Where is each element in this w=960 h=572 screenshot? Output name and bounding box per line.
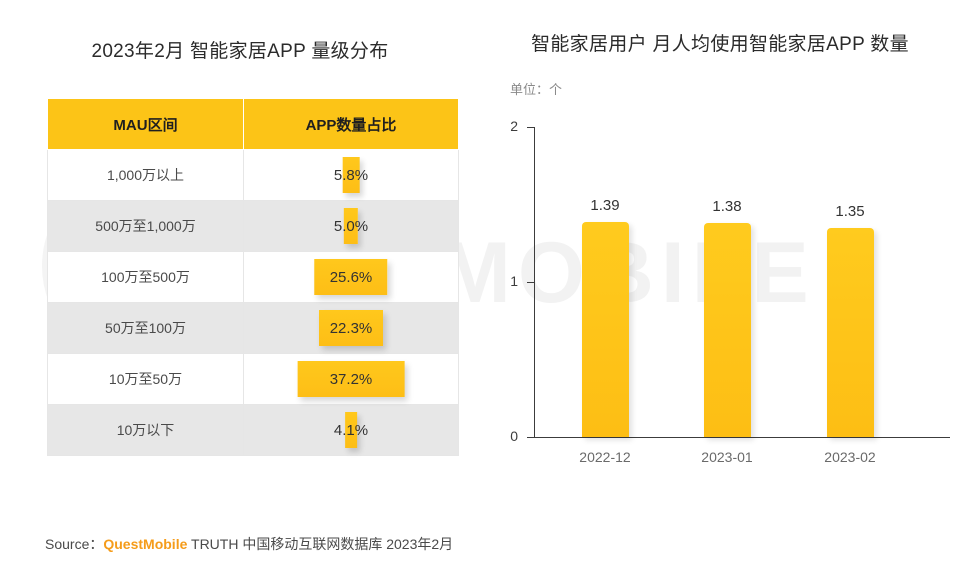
- distribution-panel: 2023年2月 智能家居APP 量级分布 MAU区间 APP数量占比 1,000…: [0, 0, 480, 500]
- table-row: 1,000万以上5.8%: [48, 150, 459, 201]
- table-row: 50万至100万22.3%: [48, 303, 459, 354]
- table-header-row: MAU区间 APP数量占比: [48, 99, 459, 150]
- cell-app-share: 37.2%: [244, 354, 459, 405]
- x-axis-tick-label: 2022-12: [555, 449, 655, 465]
- share-bar-wrapper: 37.2%: [244, 354, 458, 404]
- source-rest: TRUTH 中国移动互联网数据库 2023年2月: [187, 536, 453, 552]
- cell-mau-range: 1,000万以上: [48, 150, 244, 201]
- distribution-table-body: 1,000万以上5.8%500万至1,000万5.0%100万至500万25.6…: [48, 150, 459, 456]
- share-value-label: 5.8%: [334, 167, 368, 184]
- source-prefix: Source：: [45, 536, 103, 552]
- bar-value-label: 1.38: [687, 198, 767, 215]
- bar-chart: 012 1.391.381.35 2022-122023-012023-02: [480, 0, 960, 500]
- y-axis-tick: [527, 127, 535, 128]
- bar-value-label: 1.39: [565, 197, 645, 214]
- x-axis-tick-label: 2023-02: [800, 449, 900, 465]
- share-bar-wrapper: 25.6%: [244, 252, 458, 302]
- left-panel-title: 2023年2月 智能家居APP 量级分布: [0, 36, 480, 63]
- column-header-mau-range: MAU区间: [48, 99, 244, 150]
- share-bar-wrapper: 5.8%: [244, 150, 458, 200]
- share-value-label: 25.6%: [330, 269, 373, 286]
- cell-app-share: 25.6%: [244, 252, 459, 303]
- cell-app-share: 5.0%: [244, 201, 459, 252]
- cell-mau-range: 500万至1,000万: [48, 201, 244, 252]
- x-axis-tick-label: 2023-01: [677, 449, 777, 465]
- y-axis-tick: [527, 282, 535, 283]
- y-axis-tick-label: 0: [488, 428, 518, 444]
- y-axis-tick: [527, 437, 535, 438]
- bar: [582, 222, 629, 437]
- share-value-label: 22.3%: [330, 320, 373, 337]
- cell-mau-range: 100万至500万: [48, 252, 244, 303]
- distribution-table: MAU区间 APP数量占比 1,000万以上5.8%500万至1,000万5.0…: [47, 98, 459, 456]
- cell-mau-range: 10万以下: [48, 405, 244, 456]
- table-row: 10万以下4.1%: [48, 405, 459, 456]
- source-brand: QuestMobile: [103, 536, 187, 552]
- share-value-label: 37.2%: [330, 371, 373, 388]
- cell-app-share: 5.8%: [244, 150, 459, 201]
- cell-app-share: 22.3%: [244, 303, 459, 354]
- bar: [704, 223, 751, 437]
- column-header-app-share: APP数量占比: [244, 99, 459, 150]
- cell-app-share: 4.1%: [244, 405, 459, 456]
- share-bar-wrapper: 5.0%: [244, 201, 458, 251]
- share-value-label: 5.0%: [334, 218, 368, 235]
- share-value-label: 4.1%: [334, 422, 368, 439]
- bar: [827, 228, 874, 437]
- bar-value-label: 1.35: [810, 203, 890, 220]
- x-axis-line: [534, 437, 950, 438]
- table-row: 500万至1,000万5.0%: [48, 201, 459, 252]
- cell-mau-range: 50万至100万: [48, 303, 244, 354]
- cell-mau-range: 10万至50万: [48, 354, 244, 405]
- y-axis-tick-label: 2: [488, 118, 518, 134]
- share-bar-wrapper: 22.3%: [244, 303, 458, 353]
- avg-app-count-panel: 智能家居用户 月人均使用智能家居APP 数量 单位：个 012 1.391.38…: [480, 0, 960, 500]
- table-row: 100万至500万25.6%: [48, 252, 459, 303]
- y-axis-tick-label: 1: [488, 273, 518, 289]
- share-bar-wrapper: 4.1%: [244, 405, 458, 455]
- source-line: Source：QuestMobile TRUTH 中国移动互联网数据库 2023…: [45, 534, 453, 554]
- table-row: 10万至50万37.2%: [48, 354, 459, 405]
